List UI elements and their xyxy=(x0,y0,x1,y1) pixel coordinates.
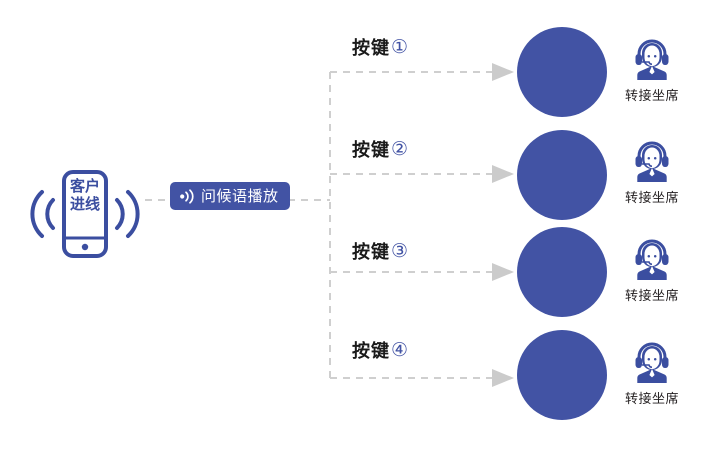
agent-caption-2: 转接坐席 xyxy=(625,187,679,206)
headset-agent-icon xyxy=(632,341,672,385)
key-label-3-text: 按键 xyxy=(352,238,390,264)
agent-caption-4: 转接坐席 xyxy=(625,388,679,407)
branch-circle-4 xyxy=(517,330,607,420)
arrowhead-4 xyxy=(492,369,514,387)
headset-agent-icon xyxy=(632,140,672,184)
agent-caption-1: 转接坐席 xyxy=(625,85,679,104)
arrowhead-2 xyxy=(492,165,514,183)
agent-node-1: 转接坐席 xyxy=(610,38,694,104)
greeting-playback-badge: 问候语播放 xyxy=(170,182,290,210)
arrowhead-3 xyxy=(492,263,514,281)
diagram-canvas: 客户 进线 问候语播放 按键 ① 转接坐席 xyxy=(0,0,718,454)
customer-incoming-call-node: 客户 进线 xyxy=(26,166,144,262)
sound-playing-icon xyxy=(179,189,195,204)
source-label-line1: 客户 xyxy=(64,178,106,196)
key-label-2-text: 按键 xyxy=(352,136,390,162)
headset-agent-icon xyxy=(632,38,672,82)
agent-node-4: 转接坐席 xyxy=(610,341,694,407)
headset-agent-icon xyxy=(632,238,672,282)
signal-wave-right-icon xyxy=(117,192,138,236)
key-label-1-text: 按键 xyxy=(352,34,390,60)
branch-circle-3 xyxy=(517,227,607,317)
key-label-4: 按键 ④ xyxy=(352,337,408,363)
key-label-3-number: ③ xyxy=(391,240,408,263)
agent-caption-3: 转接坐席 xyxy=(625,285,679,304)
arrowhead-1 xyxy=(492,63,514,81)
greeting-playback-label: 问候语播放 xyxy=(201,189,279,204)
signal-wave-left-icon xyxy=(32,192,53,236)
key-label-4-number: ④ xyxy=(391,339,408,362)
key-label-4-text: 按键 xyxy=(352,337,390,363)
branch-circle-2 xyxy=(517,130,607,220)
agent-node-3: 转接坐席 xyxy=(610,238,694,304)
key-label-1: 按键 ① xyxy=(352,34,408,60)
branch-circle-1 xyxy=(517,27,607,117)
key-label-1-number: ① xyxy=(391,36,408,59)
source-label-line2: 进线 xyxy=(64,196,106,214)
key-label-3: 按键 ③ xyxy=(352,238,408,264)
key-label-2: 按键 ② xyxy=(352,136,408,162)
agent-node-2: 转接坐席 xyxy=(610,140,694,206)
phone-home-dot-icon xyxy=(82,244,88,250)
key-label-2-number: ② xyxy=(391,138,408,161)
